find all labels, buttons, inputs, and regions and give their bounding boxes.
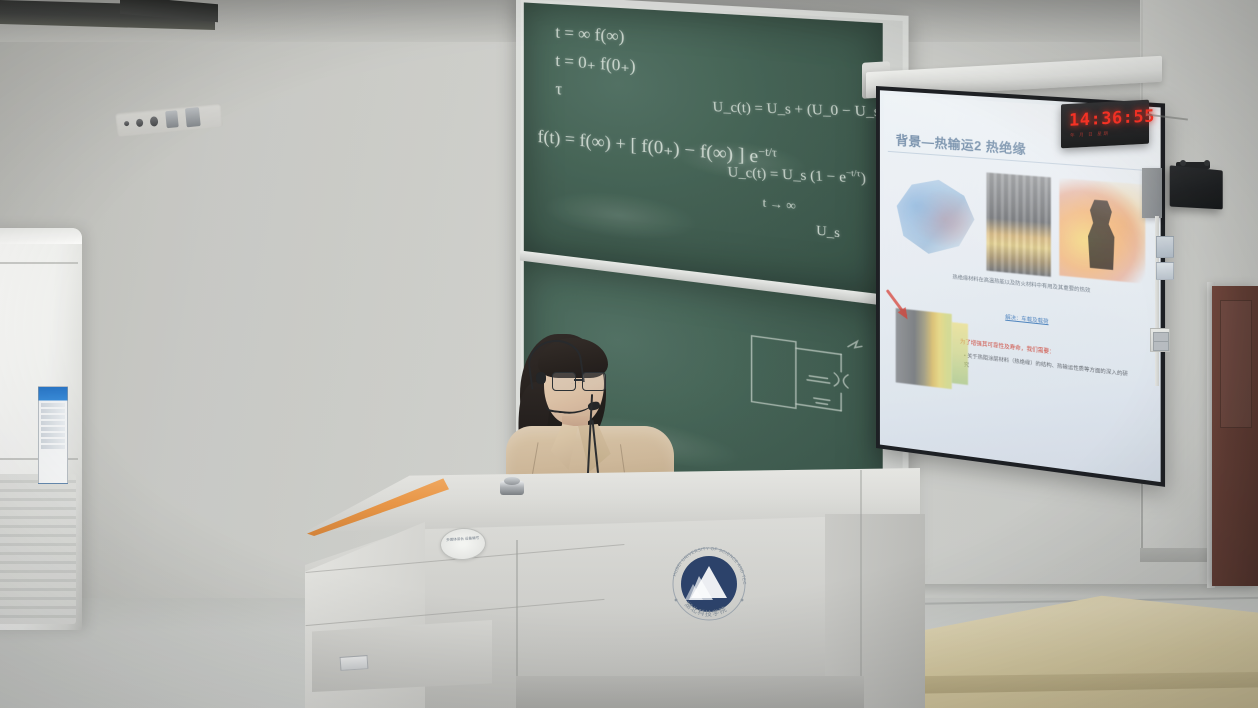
led-wall-clock: 14:36:55 年 月 日 星期 [1061,100,1149,149]
energy-label [38,386,68,484]
energy-label-rows [41,403,65,451]
lecture-hall-photo: t = ∞ f(∞) t = 0₊ f(0₊) τ f(t) = f(∞) + … [0,0,1258,708]
air-conditioner-top [0,228,82,244]
wall-mounted-speaker [1170,165,1223,209]
red-down-arrow-icon [882,287,916,325]
clock-time: 14:36:55 [1069,106,1155,131]
stage-shadow [898,584,1258,596]
clock-date-row: 年 月 日 星期 [1070,131,1110,139]
ac-vent-grille [0,474,76,624]
screen-surface: 背景—热输运2 热绝缘 热绝缘材料在高温热能以及防火材料中有用及其重要的热效 解… [880,90,1161,482]
podium-drawer-handle[interactable] [340,655,369,671]
microphone-base-top [504,477,520,485]
wall-switch-plate[interactable] [1150,328,1170,352]
industrial-furnace-photo [986,172,1050,276]
projection-screen[interactable]: 背景—热输运2 热绝缘 热绝缘材料在高温热能以及防火材料中有用及其重要的热效 解… [876,86,1169,498]
headset-earpiece [536,372,546,384]
podium-cabinet-seam-right [860,470,862,708]
wall-notice-plate-small [1156,262,1174,280]
podium-base-band [516,676,864,708]
door-panel [1220,300,1252,428]
thermal-gradient-bar [952,322,968,385]
wall-notice-plate [1156,236,1174,258]
slide-blue-note: 解决：车载及载荷 [950,308,1107,332]
turbine-engine-photo [892,169,976,263]
blackboard-upper-panel [524,2,883,294]
ac-seam [0,262,78,264]
wall-control-box [1142,168,1162,218]
university-emblem: HUBEI UNIVERSITY OF SCIENCE AND TECHNOLO… [663,538,755,630]
podium-sticker-text: 多媒体讲台 设备编号 [446,536,480,544]
